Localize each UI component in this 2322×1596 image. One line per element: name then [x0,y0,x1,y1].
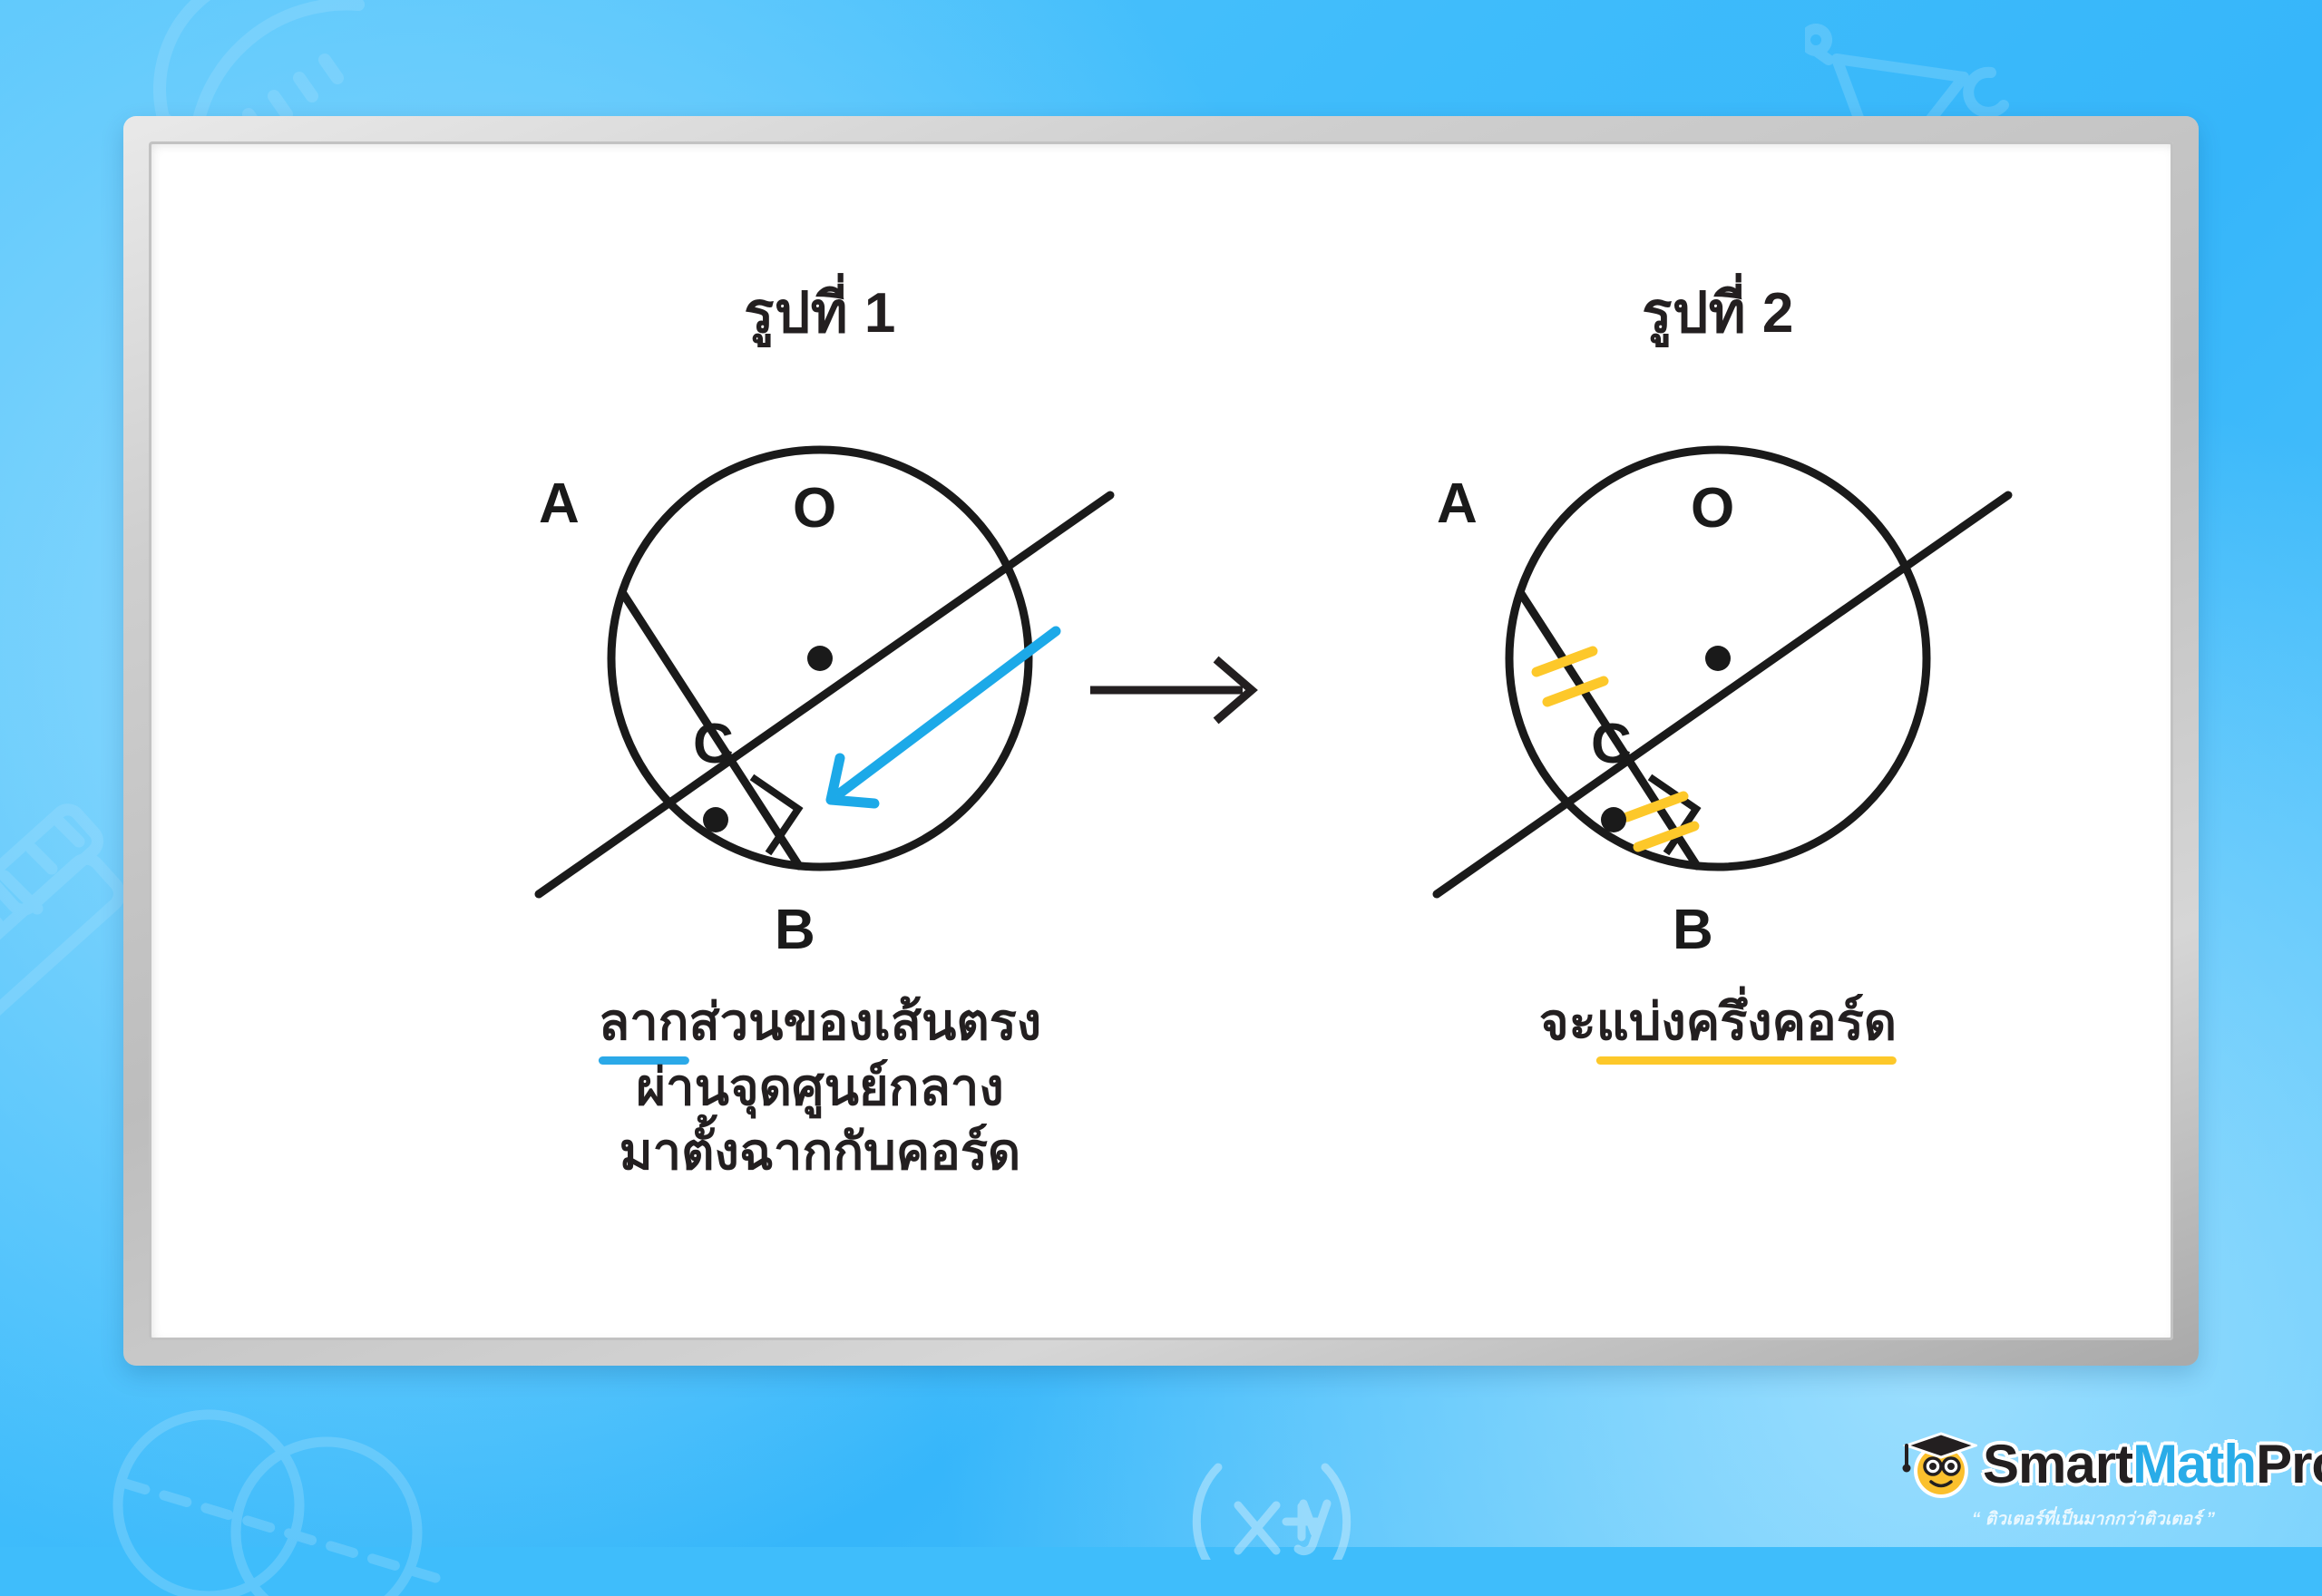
label-b: B [1673,899,1713,961]
label-a: A [1437,472,1478,535]
figure-1-title: รูปที่ 1 [744,268,896,357]
graduate-emoji-icon [1894,1426,1977,1504]
figure-1-caption: ลากส่วนของเส้นตรง ผ่านจุดศูนย์กลาง มาตั้… [599,989,1041,1184]
whiteboard-surface: รูปที่ 1 A [149,141,2173,1340]
logo-part-smart: Smart [1983,1434,2132,1494]
right-angle-marker [752,777,798,853]
board-content: รูปที่ 1 A [149,141,2173,1340]
logo-wordmark: SmartMathPro [1983,1437,2322,1492]
caption-line-3: มาตั้งฉากกับคอร์ด [599,1119,1041,1184]
label-a: A [539,472,580,535]
caption-underlined-word: ลาก [599,989,689,1055]
logo-tagline: “ ติวเตอร์ที่เป็นมากกว่าติวเตอร์ ” [1894,1505,2293,1533]
caption-prefix: จะ [1539,993,1596,1050]
caption-line-1: ลากส่วนของเส้นตรง [599,989,1041,1055]
point-o-dot [1705,646,1731,671]
logo-row: SmartMathPro [1894,1426,2293,1504]
label-o: O [793,477,836,540]
caption-line-1: จะแบ่งครึ่งคอร์ด [1539,989,1897,1055]
right-arrow-icon [1083,649,1264,731]
label-c: C [693,713,734,775]
point-o-dot [807,646,833,671]
point-c-dot [703,807,728,832]
logo-part-math: Math [2132,1434,2256,1494]
caption-line-1-rest: ส่วนของเส้นตรง [689,993,1042,1050]
figure-2-caption: จะแบ่งครึ่งคอร์ด [1539,989,1897,1055]
smartmathpro-logo[interactable]: SmartMathPro “ ติวเตอร์ที่เป็นมากกว่าติว… [1894,1426,2293,1533]
caption-underlined-word: แบ่งครึ่งคอร์ด [1596,989,1897,1055]
whiteboard-frame: รูปที่ 1 A [123,116,2199,1366]
figure-2-title: รูปที่ 2 [1642,268,1794,357]
label-o: O [1691,477,1734,540]
label-b: B [775,899,815,961]
point-c-dot [1601,807,1626,832]
logo-part-pro: Pro [2256,1434,2322,1494]
label-c: C [1591,713,1632,775]
figure-2-diagram: A B C O [1319,359,2117,976]
caption-line-2: ผ่านจุดศูนย์กลาง [599,1055,1041,1120]
